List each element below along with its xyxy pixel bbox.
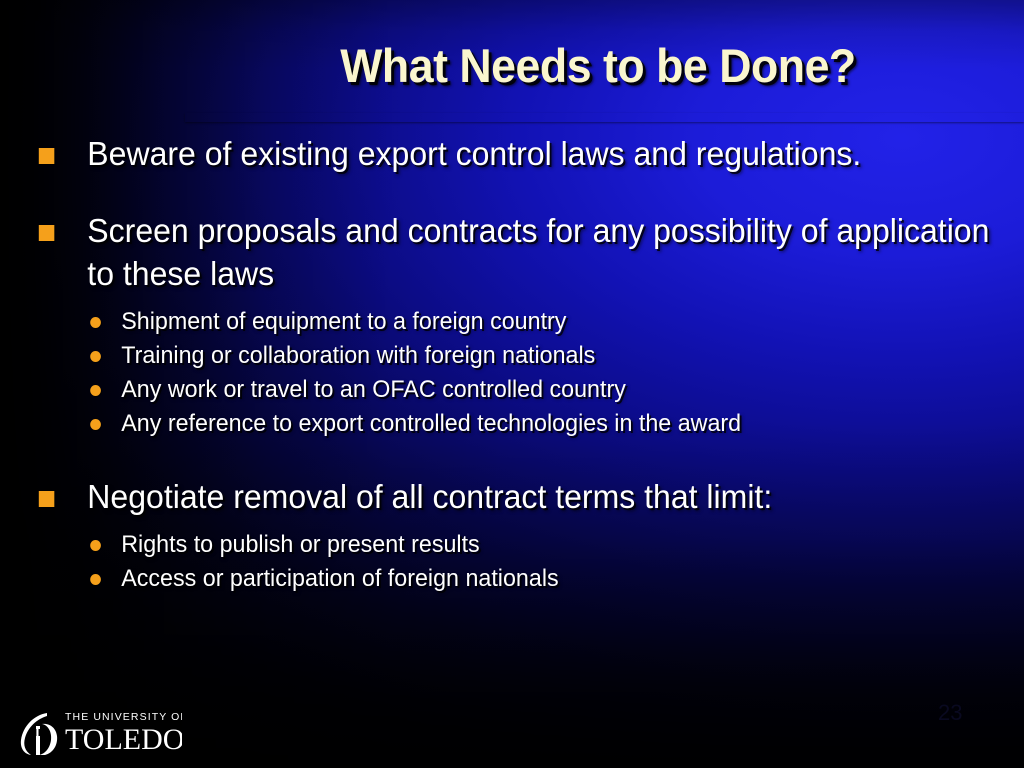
bullet-group-3: Negotiate removal of all contract terms … — [0, 475, 1024, 596]
university-logo: THE UNIVERSITY OF TOLEDO — [10, 708, 182, 760]
title-divider-bar — [185, 113, 1024, 122]
slide-number: 23 — [938, 700, 962, 726]
bullet-level1-text: Negotiate removal of all contract terms … — [87, 478, 772, 515]
toledo-torch-mark-icon — [14, 710, 66, 758]
bullet-level2: Access or participation of foreign natio… — [0, 562, 993, 596]
bullet-level1-text: Beware of existing export control laws a… — [87, 135, 861, 172]
bullet-level2-text: Access or participation of foreign natio… — [121, 565, 558, 592]
round-bullet-icon — [90, 540, 101, 551]
bullet-level1: Negotiate removal of all contract terms … — [0, 475, 993, 518]
bullet-level2: Training or collaboration with foreign n… — [0, 339, 993, 373]
round-bullet-icon — [90, 317, 101, 328]
logo-line-toledo: TOLEDO — [65, 724, 182, 755]
round-bullet-icon — [90, 574, 101, 585]
round-bullet-icon — [90, 351, 101, 362]
round-bullet-icon — [90, 419, 101, 430]
presentation-slide: What Needs to be Done? Beware of existin… — [0, 0, 1024, 768]
bullet-level2-text: Rights to publish or present results — [121, 531, 479, 558]
slide-body: Beware of existing export control laws a… — [0, 132, 1024, 596]
slide-title: What Needs to be Done? — [201, 42, 995, 89]
bullet-group-1: Beware of existing export control laws a… — [0, 132, 1024, 175]
bullet-level2-text: Training or collaboration with foreign n… — [121, 342, 595, 369]
bullet-group-2: Screen proposals and contracts for any p… — [0, 209, 1024, 441]
bullet-level2-text: Any reference to export controlled techn… — [121, 410, 741, 437]
logo-wordmark: THE UNIVERSITY OF TOLEDO — [65, 711, 182, 755]
square-bullet-icon — [39, 491, 55, 507]
bullet-level1-text: Screen proposals and contracts for any p… — [87, 212, 989, 292]
bullet-level2: Rights to publish or present results — [0, 528, 993, 562]
bullet-level2-text: Shipment of equipment to a foreign count… — [121, 308, 566, 335]
bullet-level2: Shipment of equipment to a foreign count… — [0, 305, 993, 339]
round-bullet-icon — [90, 385, 101, 396]
spacer — [0, 441, 1024, 475]
bullet-level1: Beware of existing export control laws a… — [0, 132, 993, 175]
bullet-level2: Any work or travel to an OFAC controlled… — [0, 373, 993, 407]
bullet-level2-text: Any work or travel to an OFAC controlled… — [121, 376, 626, 403]
bullet-level1: Screen proposals and contracts for any p… — [0, 209, 993, 295]
spacer — [0, 175, 1024, 209]
bullet-level2: Any reference to export controlled techn… — [0, 407, 993, 441]
spacer — [0, 295, 1024, 305]
square-bullet-icon — [39, 225, 55, 241]
square-bullet-icon — [39, 148, 55, 164]
spacer — [0, 518, 1024, 528]
